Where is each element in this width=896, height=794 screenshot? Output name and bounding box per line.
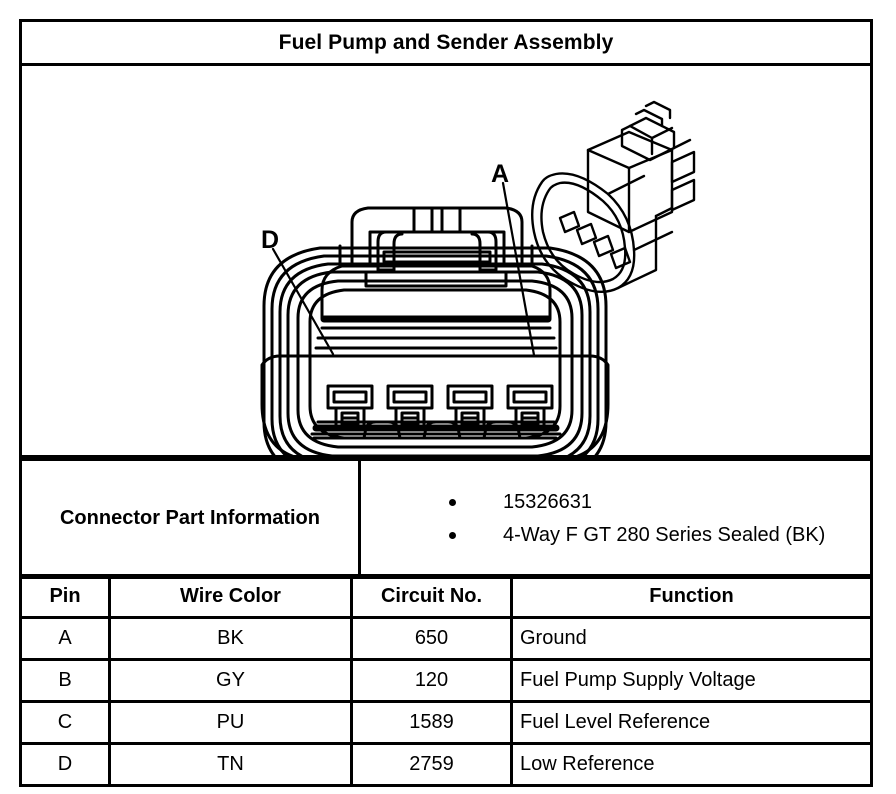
cell-wire-color: GY — [110, 660, 352, 702]
column-header-wire-color: Wire Color — [110, 576, 352, 618]
callout-label-d: D — [261, 226, 279, 254]
connector-drawing: D A — [22, 66, 870, 455]
pin-assignment-table: Pin Wire Color Circuit No. Function A BK… — [19, 574, 873, 787]
title-bar: Fuel Pump and Sender Assembly — [22, 22, 870, 66]
cell-function: Fuel Level Reference — [512, 702, 872, 744]
connector-part-information-table: Connector Part Information 15326631 4-Wa… — [19, 458, 873, 579]
cell-circuit-no: 2759 — [352, 744, 512, 786]
isometric-view — [532, 102, 694, 292]
cell-function: Low Reference — [512, 744, 872, 786]
bullet-icon — [449, 532, 456, 539]
table-header-row: Pin Wire Color Circuit No. Function — [21, 576, 872, 618]
callout-label-a: A — [491, 160, 509, 188]
part-number: 15326631 — [503, 491, 592, 513]
cell-function: Fuel Pump Supply Voltage — [512, 660, 872, 702]
table-row: Connector Part Information 15326631 4-Wa… — [21, 460, 872, 578]
connector-illustration: D A — [22, 66, 870, 455]
bullet-icon — [449, 499, 456, 506]
column-header-circuit-no: Circuit No. — [352, 576, 512, 618]
list-item: 15326631 — [361, 486, 870, 518]
cell-function: Ground — [512, 618, 872, 660]
connector-part-information-label-cell: Connector Part Information — [21, 460, 360, 578]
table-row: D TN 2759 Low Reference — [21, 744, 872, 786]
cell-pin: B — [21, 660, 110, 702]
cell-wire-color: TN — [110, 744, 352, 786]
cell-pin: A — [21, 618, 110, 660]
list-item: 4-Way F GT 280 Series Sealed (BK) — [361, 519, 870, 551]
page-title: Fuel Pump and Sender Assembly — [279, 31, 614, 55]
cell-circuit-no: 120 — [352, 660, 512, 702]
cell-wire-color: PU — [110, 702, 352, 744]
part-description: 4-Way F GT 280 Series Sealed (BK) — [503, 524, 825, 546]
table-row: B GY 120 Fuel Pump Supply Voltage — [21, 660, 872, 702]
cell-wire-color: BK — [110, 618, 352, 660]
diagram-frame: Fuel Pump and Sender Assembly — [19, 19, 873, 458]
column-header-pin: Pin — [21, 576, 110, 618]
connector-part-information-values-cell: 15326631 4-Way F GT 280 Series Sealed (B… — [360, 460, 872, 578]
column-header-function: Function — [512, 576, 872, 618]
cell-circuit-no: 1589 — [352, 702, 512, 744]
front-face-view — [262, 208, 608, 455]
connector-part-information-list: 15326631 4-Way F GT 280 Series Sealed (B… — [361, 486, 870, 551]
table-row: A BK 650 Ground — [21, 618, 872, 660]
table-row: C PU 1589 Fuel Level Reference — [21, 702, 872, 744]
cell-pin: D — [21, 744, 110, 786]
connector-part-information-label: Connector Part Information — [60, 507, 320, 529]
cell-circuit-no: 650 — [352, 618, 512, 660]
cell-pin: C — [21, 702, 110, 744]
connector-diagram-page: Fuel Pump and Sender Assembly — [0, 0, 896, 794]
